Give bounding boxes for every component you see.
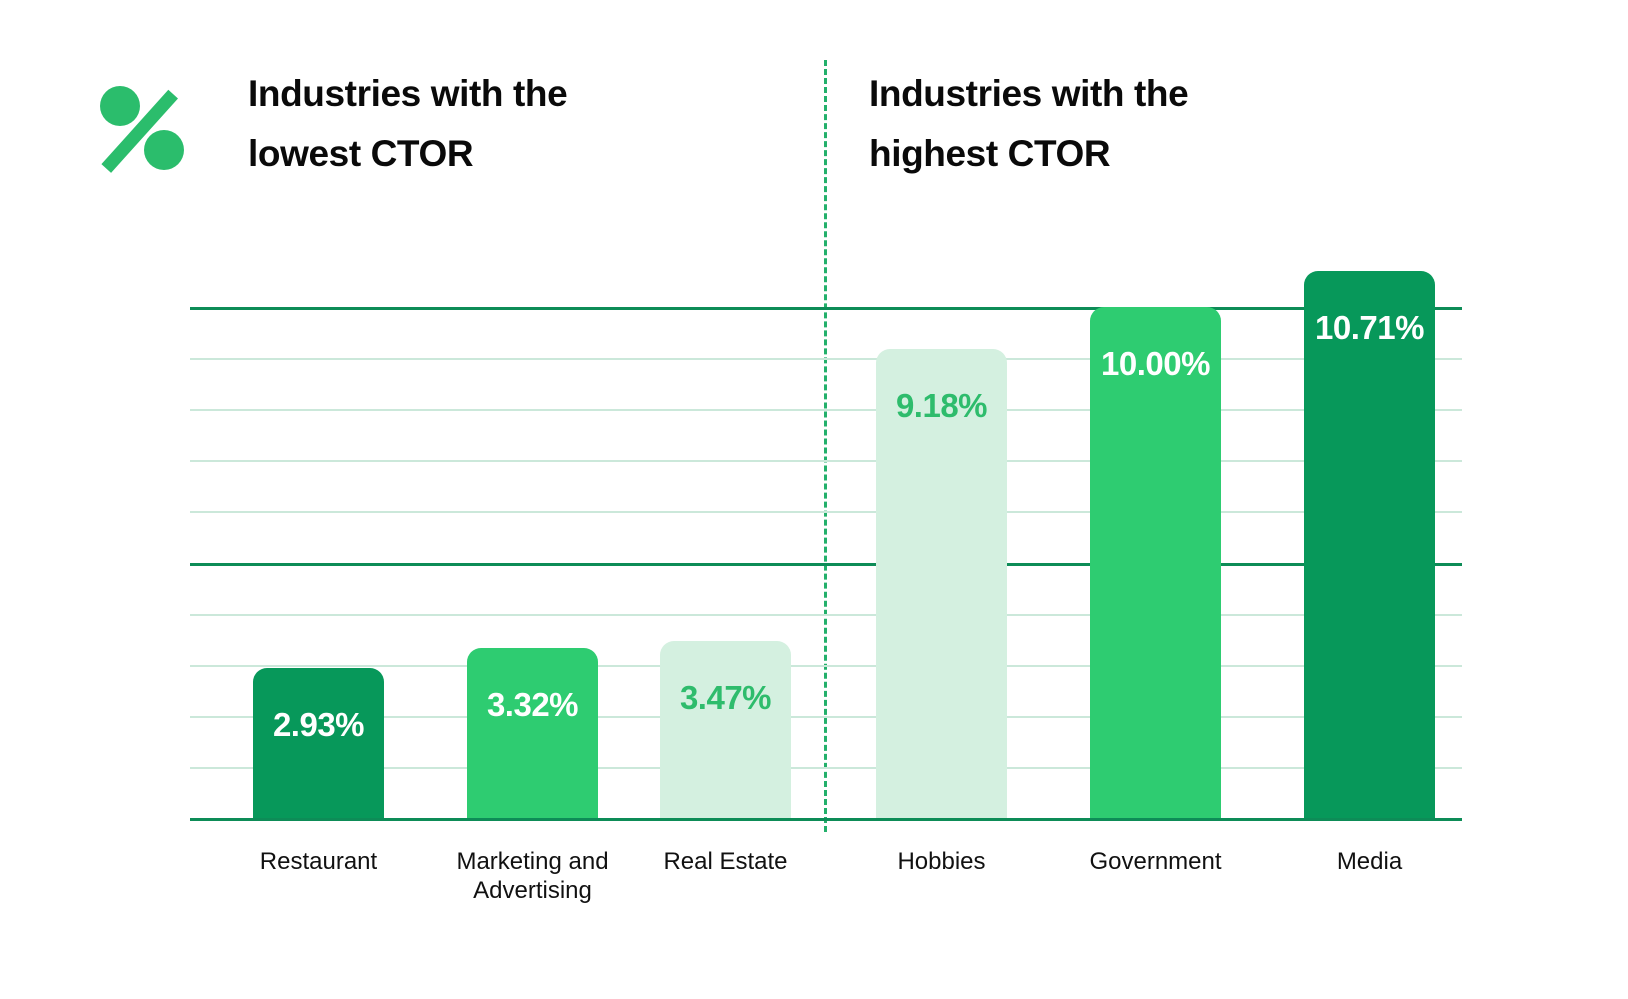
bar-marketing-and-advertising[interactable]: 3.32% <box>467 648 598 818</box>
bar-hobbies[interactable]: 9.18% <box>876 349 1007 818</box>
bar-value-label: 3.32% <box>467 686 598 724</box>
bar-value-label: 10.71% <box>1304 309 1435 347</box>
percent-icon <box>96 82 188 174</box>
x-axis-label: Restaurant <box>208 847 429 876</box>
gridline-minor <box>190 358 1462 360</box>
bar-media[interactable]: 10.71% <box>1304 271 1435 818</box>
heading-lowest-ctor: Industries with the lowest CTOR <box>248 64 768 184</box>
bar-value-label: 9.18% <box>876 387 1007 425</box>
gridline-major <box>190 307 1462 310</box>
bar-restaurant[interactable]: 2.93% <box>253 668 384 818</box>
bar-value-label: 2.93% <box>253 706 384 744</box>
bar-government[interactable]: 10.00% <box>1090 307 1221 818</box>
gridline-minor <box>190 409 1462 411</box>
x-axis-label: Hobbies <box>831 847 1052 876</box>
plot-area: 0%5%10%2.93%Restaurant3.32%Marketing and… <box>190 307 1462 818</box>
gridline-minor <box>190 665 1462 667</box>
bar-real-estate[interactable]: 3.47% <box>660 641 791 818</box>
gridline-minor <box>190 614 1462 616</box>
x-axis-label: Real Estate <box>615 847 836 876</box>
gridline-minor <box>190 511 1462 513</box>
gridline-minor <box>190 460 1462 462</box>
bar-value-label: 10.00% <box>1090 345 1221 383</box>
x-axis-label: Media <box>1259 847 1480 876</box>
gridline-major <box>190 563 1462 566</box>
x-axis-label: Marketing and Advertising <box>422 847 643 906</box>
heading-highest-ctor: Industries with the highest CTOR <box>869 64 1389 184</box>
chart-canvas: Industries with the lowest CTOR Industri… <box>0 0 1628 999</box>
gridline-major <box>190 818 1462 821</box>
x-axis-label: Government <box>1045 847 1266 876</box>
bar-value-label: 3.47% <box>660 679 791 717</box>
